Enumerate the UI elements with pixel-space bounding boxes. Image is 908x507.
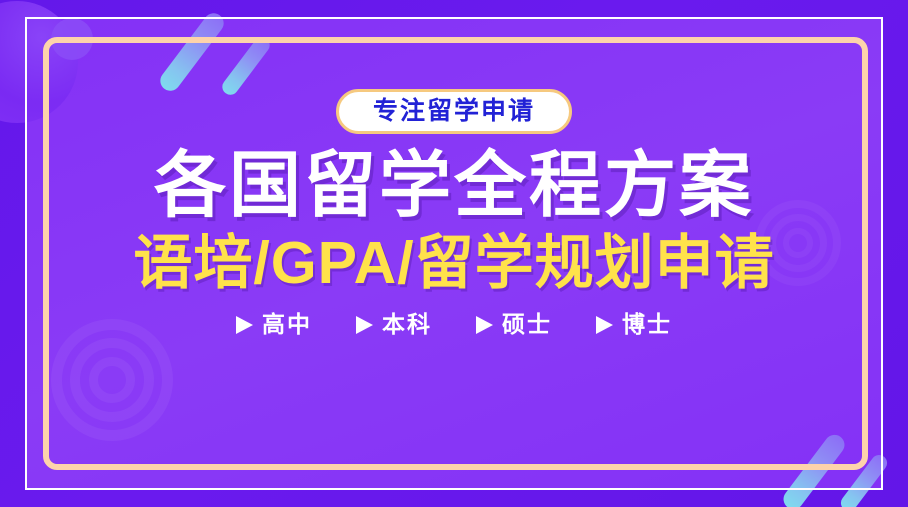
arrow-right-icon xyxy=(236,316,253,334)
study-level-item-highschool: 高中 xyxy=(236,313,312,336)
subheadline-title: 语培/GPA/留学规划申请 xyxy=(133,234,774,293)
study-level-item-master: 硕士 xyxy=(476,313,552,336)
study-level-label: 博士 xyxy=(622,313,672,336)
arrow-right-icon xyxy=(356,316,373,334)
arrow-right-icon xyxy=(596,316,613,334)
study-level-label: 硕士 xyxy=(502,313,552,336)
promo-banner: 专注留学申请 各国留学全程方案 语培/GPA/留学规划申请 高中 本科 硕士 博… xyxy=(0,0,908,507)
arrow-right-icon xyxy=(476,316,493,334)
banner-content: 专注留学申请 各国留学全程方案 语培/GPA/留学规划申请 高中 本科 硕士 博… xyxy=(0,0,908,507)
study-level-label: 高中 xyxy=(262,313,312,336)
study-level-item-bachelor: 本科 xyxy=(356,313,432,336)
study-level-item-doctor: 博士 xyxy=(596,313,672,336)
tagline-badge: 专注留学申请 xyxy=(336,89,572,134)
study-level-label: 本科 xyxy=(382,313,432,336)
tagline-badge-label: 专注留学申请 xyxy=(373,99,535,124)
study-level-list: 高中 本科 硕士 博士 xyxy=(236,313,672,336)
headline-title: 各国留学全程方案 xyxy=(154,150,754,222)
